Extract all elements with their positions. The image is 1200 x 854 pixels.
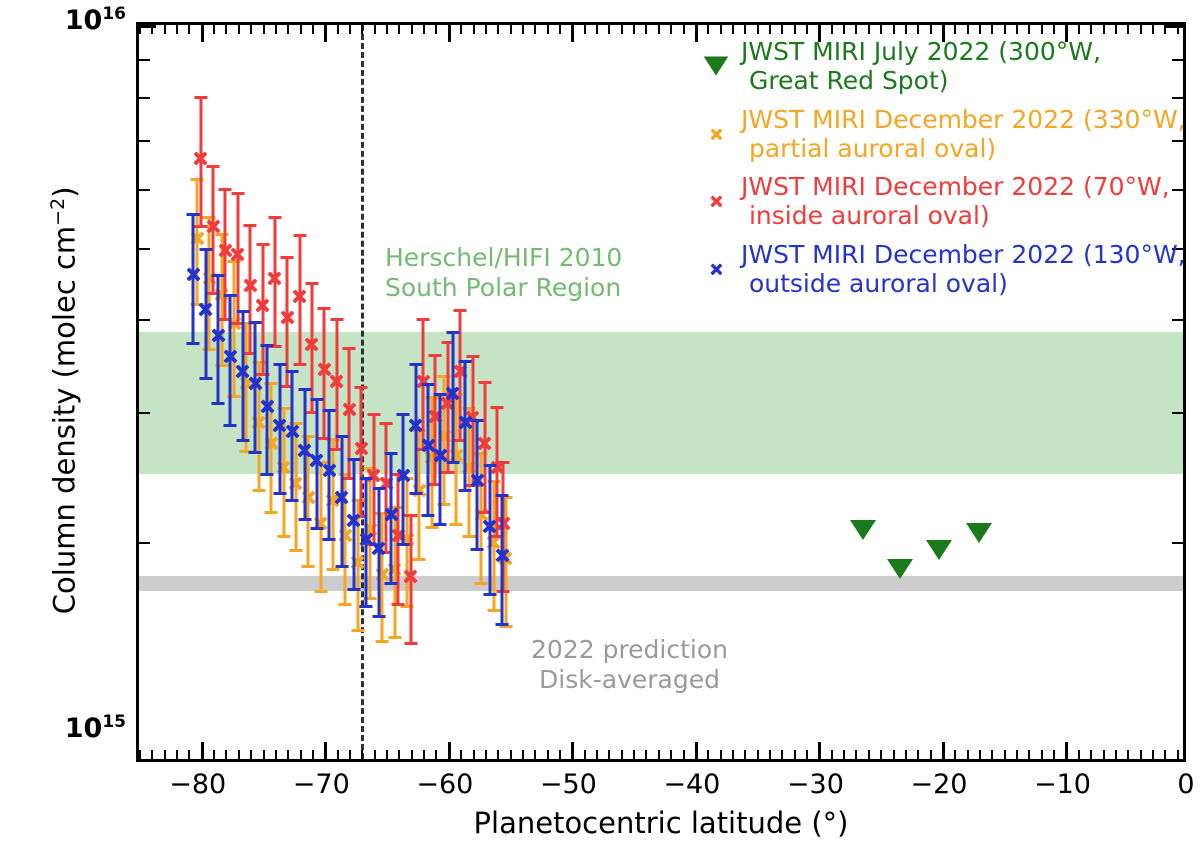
error-bar xyxy=(208,217,211,349)
error-bar xyxy=(294,423,297,551)
axis-tick xyxy=(880,750,882,759)
axis-tick xyxy=(324,25,327,42)
axis-tick xyxy=(991,750,993,759)
legend-label: JWST MIRI July 2022 (300°W, Great Red Sp… xyxy=(741,37,1179,96)
axis-tick xyxy=(818,742,821,759)
axis-tick xyxy=(225,25,227,34)
error-bar xyxy=(455,394,458,523)
axis-tick xyxy=(337,25,339,34)
axis-tick xyxy=(164,25,166,34)
error-bar xyxy=(310,283,313,412)
axis-tick xyxy=(349,750,351,759)
axis-tick xyxy=(300,750,302,759)
error-bar-cap xyxy=(323,538,336,541)
axis-tick xyxy=(843,750,845,759)
axis-tick xyxy=(893,750,895,759)
error-bar xyxy=(464,361,467,490)
axis-tick xyxy=(831,750,833,759)
error-bar xyxy=(352,459,355,589)
axis-tick xyxy=(473,750,475,759)
error-bar xyxy=(390,453,393,583)
axis-tick xyxy=(584,25,586,34)
error-bar-cap xyxy=(286,370,299,373)
x-glyph xyxy=(709,127,723,141)
error-bar-cap xyxy=(318,307,331,310)
error-bar-cap xyxy=(224,424,237,427)
axis-tick xyxy=(1041,750,1043,759)
error-bar xyxy=(196,179,199,304)
error-bar-cap xyxy=(293,234,306,237)
error-bar-cap xyxy=(441,471,454,474)
error-bar xyxy=(270,383,273,511)
axis-tick xyxy=(275,750,277,759)
error-bar-cap xyxy=(281,256,294,259)
axis-tick xyxy=(1115,750,1117,759)
axis-tick xyxy=(1103,750,1105,759)
axis-tick xyxy=(411,750,413,759)
error-bar-cap xyxy=(194,225,207,228)
axis-tick xyxy=(1053,750,1055,759)
axis-tick xyxy=(571,25,574,42)
axis-tick xyxy=(176,750,178,759)
axis-tick xyxy=(534,750,536,759)
axis-tick xyxy=(139,750,141,759)
error-bar-cap xyxy=(367,413,380,416)
axis-tick xyxy=(213,25,215,34)
axis-tick xyxy=(510,25,512,34)
axis-tick xyxy=(979,25,981,34)
axis-tick xyxy=(559,25,561,34)
legend-entry[interactable]: JWST MIRI July 2022 (300°W, Great Red Sp… xyxy=(699,37,1179,96)
error-bar-cap xyxy=(302,565,315,568)
axis-tick xyxy=(139,25,156,28)
error-bar xyxy=(356,500,359,630)
error-bar xyxy=(439,394,442,523)
error-bar xyxy=(501,495,504,625)
axis-tick xyxy=(1177,750,1179,759)
axis-tick xyxy=(1140,25,1142,34)
error-bar-cap xyxy=(478,381,491,384)
axis-tick xyxy=(497,25,499,34)
data-point-upper-limit-triangle xyxy=(850,520,876,540)
axis-tick xyxy=(1016,25,1018,34)
error-bar-cap xyxy=(425,526,438,529)
error-bar-cap xyxy=(310,398,323,401)
error-bar xyxy=(377,488,380,616)
axis-tick xyxy=(1065,742,1068,759)
error-bar-cap xyxy=(496,623,509,626)
error-bar-cap xyxy=(466,355,479,358)
error-bar-cap xyxy=(219,188,232,191)
axis-tick xyxy=(139,412,150,414)
legend-entry[interactable]: JWST MIRI December 2022 (130°W, outside … xyxy=(699,240,1179,299)
axis-tick xyxy=(374,25,376,34)
error-bar xyxy=(365,478,368,606)
error-bar-cap xyxy=(224,294,237,297)
y-axis-label-text: Column density (molec cm−2) xyxy=(47,186,81,614)
axis-tick xyxy=(1152,25,1154,34)
axis-tick xyxy=(1164,750,1166,759)
error-bar-cap xyxy=(417,318,430,321)
error-bar-cap xyxy=(487,609,500,612)
axis-tick xyxy=(633,750,635,759)
axis-tick xyxy=(1127,25,1129,34)
triangle-glyph xyxy=(704,57,729,76)
axis-tick xyxy=(695,25,698,42)
axis-tick xyxy=(707,25,709,34)
axis-tick xyxy=(1172,412,1183,414)
axis-tick xyxy=(337,750,339,759)
error-bar xyxy=(488,465,491,594)
axis-tick xyxy=(1028,25,1030,34)
error-bar xyxy=(199,97,202,226)
error-bar-cap xyxy=(404,642,417,645)
error-bar-cap xyxy=(429,354,442,357)
axis-tick xyxy=(386,750,388,759)
axis-tick xyxy=(423,750,425,759)
error-bar-cap xyxy=(305,282,318,285)
error-bar xyxy=(257,362,260,490)
error-bar xyxy=(261,244,264,374)
axis-tick xyxy=(1090,25,1092,34)
axis-tick xyxy=(991,25,993,34)
prediction-band xyxy=(139,576,1183,591)
axis-tick xyxy=(781,25,783,34)
legend-x-marker-icon xyxy=(699,252,733,286)
error-bar-cap xyxy=(293,363,306,366)
error-bar xyxy=(434,355,437,484)
axis-tick xyxy=(1028,750,1030,759)
error-bar xyxy=(217,275,220,404)
error-bar-cap xyxy=(261,473,274,476)
error-bar-cap xyxy=(326,568,339,571)
error-bar xyxy=(245,323,248,451)
legend-triangle-down-icon xyxy=(699,49,733,83)
axis-tick xyxy=(423,25,425,34)
error-bar-cap xyxy=(187,213,200,216)
axis-tick xyxy=(1166,25,1183,28)
error-bar xyxy=(480,453,483,583)
axis-tick xyxy=(435,25,437,34)
axis-tick xyxy=(868,750,870,759)
error-bar-cap xyxy=(392,603,405,606)
error-bar-cap xyxy=(231,192,244,195)
error-bar-cap xyxy=(471,419,484,422)
axis-tick xyxy=(448,742,451,759)
axis-tick xyxy=(510,750,512,759)
error-bar-cap xyxy=(256,243,269,246)
axis-tick xyxy=(361,25,363,34)
error-bar xyxy=(291,371,294,500)
error-bar xyxy=(286,257,289,386)
axis-tick xyxy=(435,750,437,759)
axis-tick xyxy=(398,750,400,759)
error-bar xyxy=(192,214,195,343)
axis-tick xyxy=(139,248,150,250)
axis-tick xyxy=(485,25,487,34)
error-bar-cap xyxy=(273,492,286,495)
axis-tick xyxy=(954,25,956,34)
error-bar xyxy=(476,420,479,549)
error-bar xyxy=(307,436,310,565)
axis-tick xyxy=(139,319,150,321)
axis-tick xyxy=(954,750,956,759)
axis-tick xyxy=(596,750,598,759)
legend-label: JWST MIRI December 2022 (70°W, inside au… xyxy=(741,172,1179,231)
error-bar-cap xyxy=(462,535,475,538)
error-bar-cap xyxy=(385,452,398,455)
axis-tick xyxy=(312,25,314,34)
axis-tick xyxy=(1090,750,1092,759)
axis-tick xyxy=(361,750,363,759)
axis-tick xyxy=(522,25,524,34)
x-glyph xyxy=(709,262,723,276)
axis-tick xyxy=(1078,25,1080,34)
error-bar-cap xyxy=(404,514,417,517)
axis-tick xyxy=(905,750,907,759)
error-bar xyxy=(414,364,417,493)
error-bar-cap xyxy=(434,523,447,526)
axis-tick xyxy=(411,25,413,34)
data-point-upper-limit-triangle xyxy=(887,559,913,579)
axis-tick xyxy=(1140,750,1142,759)
error-bar-cap xyxy=(397,543,410,546)
axis-tick xyxy=(559,750,561,759)
error-bar-cap xyxy=(199,248,212,251)
error-bar-cap xyxy=(339,603,352,606)
error-bar xyxy=(298,235,301,364)
error-bar xyxy=(459,310,462,440)
axis-tick xyxy=(633,25,635,34)
data-point-upper-limit-triangle xyxy=(926,540,952,560)
error-bar-cap xyxy=(360,605,373,608)
error-bar-cap xyxy=(335,435,348,438)
axis-tick xyxy=(683,25,685,34)
error-bar xyxy=(204,249,207,378)
axis-tick xyxy=(139,59,150,61)
error-bar-cap xyxy=(335,565,348,568)
axis-tick xyxy=(621,25,623,34)
error-bar xyxy=(249,225,252,354)
axis-tick xyxy=(596,25,598,34)
axis-tick xyxy=(732,25,734,34)
error-bar-cap xyxy=(298,388,311,391)
error-bar-cap xyxy=(289,549,302,552)
axis-tick xyxy=(806,750,808,759)
legend-x-marker-icon xyxy=(699,117,733,151)
legend-x-marker-icon xyxy=(699,184,733,218)
x-tick-label: −80 xyxy=(169,769,226,800)
error-bar xyxy=(344,474,347,604)
error-bar-cap xyxy=(422,383,435,386)
axis-tick xyxy=(485,750,487,759)
error-bar-cap xyxy=(277,535,290,538)
axis-tick xyxy=(164,750,166,759)
error-bar-cap xyxy=(347,458,360,461)
error-bar xyxy=(381,513,384,641)
error-bar xyxy=(451,332,454,462)
axis-tick xyxy=(374,750,376,759)
axis-tick xyxy=(868,25,870,34)
axis-tick xyxy=(188,25,190,34)
error-bar-cap xyxy=(388,636,401,639)
axis-tick xyxy=(460,25,462,34)
axis-tick xyxy=(967,750,969,759)
x-tick-label: −70 xyxy=(293,769,350,800)
axis-tick xyxy=(139,189,150,191)
error-bar-cap xyxy=(483,464,496,467)
axis-tick xyxy=(979,750,981,759)
error-bar-cap xyxy=(409,492,422,495)
error-bar xyxy=(241,311,244,440)
axis-tick xyxy=(225,750,227,759)
error-bar-cap xyxy=(252,489,265,492)
error-bar-cap xyxy=(459,489,472,492)
axis-tick xyxy=(139,97,150,99)
error-bar xyxy=(328,410,331,539)
axis-tick xyxy=(386,25,388,34)
axis-tick xyxy=(720,25,722,34)
axis-tick xyxy=(287,750,289,759)
axis-tick xyxy=(683,750,685,759)
error-bar xyxy=(266,345,269,474)
error-bar xyxy=(224,189,227,319)
error-bar xyxy=(467,408,470,536)
axis-tick xyxy=(707,750,709,759)
error-bar xyxy=(278,364,281,493)
error-bar xyxy=(393,507,396,637)
error-bar xyxy=(282,408,285,536)
axis-tick xyxy=(1115,25,1117,34)
error-bar-cap xyxy=(483,593,496,596)
error-bar xyxy=(303,389,306,519)
axis-tick xyxy=(213,750,215,759)
error-bar xyxy=(369,468,372,598)
axis-tick xyxy=(930,25,932,34)
axis-tick xyxy=(670,25,672,34)
axis-tick xyxy=(151,750,153,759)
axis-tick xyxy=(275,25,277,34)
error-bar-cap xyxy=(446,331,459,334)
error-bar-cap xyxy=(385,582,398,585)
axis-tick xyxy=(448,25,451,42)
y-tick-label-bottom: 1015 xyxy=(65,712,126,744)
axis-tick xyxy=(1103,25,1105,34)
error-bar xyxy=(496,407,499,536)
axis-tick xyxy=(757,25,759,34)
axis-tick xyxy=(905,25,907,34)
error-bar-cap xyxy=(372,615,385,618)
error-bar xyxy=(273,217,276,346)
error-bar-cap xyxy=(199,377,212,380)
axis-tick xyxy=(1127,750,1129,759)
axis-tick xyxy=(201,742,204,759)
error-bar-cap xyxy=(187,342,200,345)
error-bar-cap xyxy=(409,363,422,366)
error-bar-cap xyxy=(249,451,262,454)
error-bar-cap xyxy=(496,494,509,497)
error-bar-cap xyxy=(372,487,385,490)
error-bar-cap xyxy=(422,514,435,517)
error-bar-cap xyxy=(244,224,257,227)
axis-tick xyxy=(263,750,265,759)
error-bar xyxy=(233,261,236,396)
error-bar xyxy=(220,234,223,365)
x-tick-label: −40 xyxy=(663,769,720,800)
error-bar xyxy=(323,308,326,437)
error-bar xyxy=(430,397,433,526)
axis-tick xyxy=(287,25,289,34)
error-bar xyxy=(409,515,412,644)
axis-tick xyxy=(608,25,610,34)
axis-tick xyxy=(238,750,240,759)
axis-tick xyxy=(1172,542,1183,544)
axis-tick xyxy=(1041,25,1043,34)
axis-tick xyxy=(720,750,722,759)
error-bar-cap xyxy=(459,360,472,363)
axis-tick xyxy=(139,140,150,142)
error-bar-cap xyxy=(471,548,484,551)
error-bar-cap xyxy=(261,344,274,347)
legend-entry[interactable]: JWST MIRI December 2022 (330°W, partial … xyxy=(699,105,1179,164)
axis-tick xyxy=(201,25,204,42)
chart-figure: Column density (molec cm−2) 1016 1015 He… xyxy=(0,0,1200,854)
axis-tick xyxy=(176,25,178,34)
axis-tick xyxy=(1078,750,1080,759)
error-bar-cap xyxy=(343,347,356,350)
error-bar-cap xyxy=(491,406,504,409)
axis-tick xyxy=(1152,750,1154,759)
axis-tick xyxy=(732,750,734,759)
error-bar-cap xyxy=(212,274,225,277)
error-bar-cap xyxy=(310,527,323,530)
axis-tick xyxy=(584,750,586,759)
axis-tick xyxy=(534,25,536,34)
axis-tick xyxy=(794,25,796,34)
error-bar-cap xyxy=(236,439,249,442)
error-bar-cap xyxy=(413,558,426,561)
error-bar xyxy=(427,384,430,514)
error-bar-cap xyxy=(450,523,463,526)
error-bar-cap xyxy=(497,461,510,464)
axis-tick xyxy=(757,750,759,759)
error-bar-cap xyxy=(268,216,281,219)
axis-tick xyxy=(930,750,932,759)
legend-entry[interactable]: JWST MIRI December 2022 (70°W, inside au… xyxy=(699,172,1179,231)
axis-tick xyxy=(942,742,945,759)
error-bar xyxy=(340,436,343,565)
error-bar-cap xyxy=(323,409,336,412)
error-bar-cap xyxy=(265,511,278,514)
axis-tick xyxy=(522,750,524,759)
axis-tick xyxy=(1172,319,1183,321)
error-bar-cap xyxy=(351,629,364,632)
axis-tick xyxy=(744,750,746,759)
axis-tick xyxy=(300,25,302,34)
axis-tick xyxy=(744,25,746,34)
axis-tick xyxy=(1004,25,1006,34)
herschel-annotation: Herschel/HIFI 2010 South Polar Region xyxy=(385,243,622,302)
axis-tick xyxy=(263,25,265,34)
x-axis-label: Planetocentric latitude (°) xyxy=(136,806,1186,840)
axis-tick xyxy=(843,25,845,34)
axis-tick xyxy=(670,750,672,759)
error-bar-cap xyxy=(330,318,343,321)
error-bar-cap xyxy=(376,640,389,643)
axis-tick xyxy=(893,25,895,34)
plot-area: Herschel/HIFI 2010 South Polar Region 20… xyxy=(136,22,1186,762)
error-bar-cap xyxy=(360,477,373,480)
